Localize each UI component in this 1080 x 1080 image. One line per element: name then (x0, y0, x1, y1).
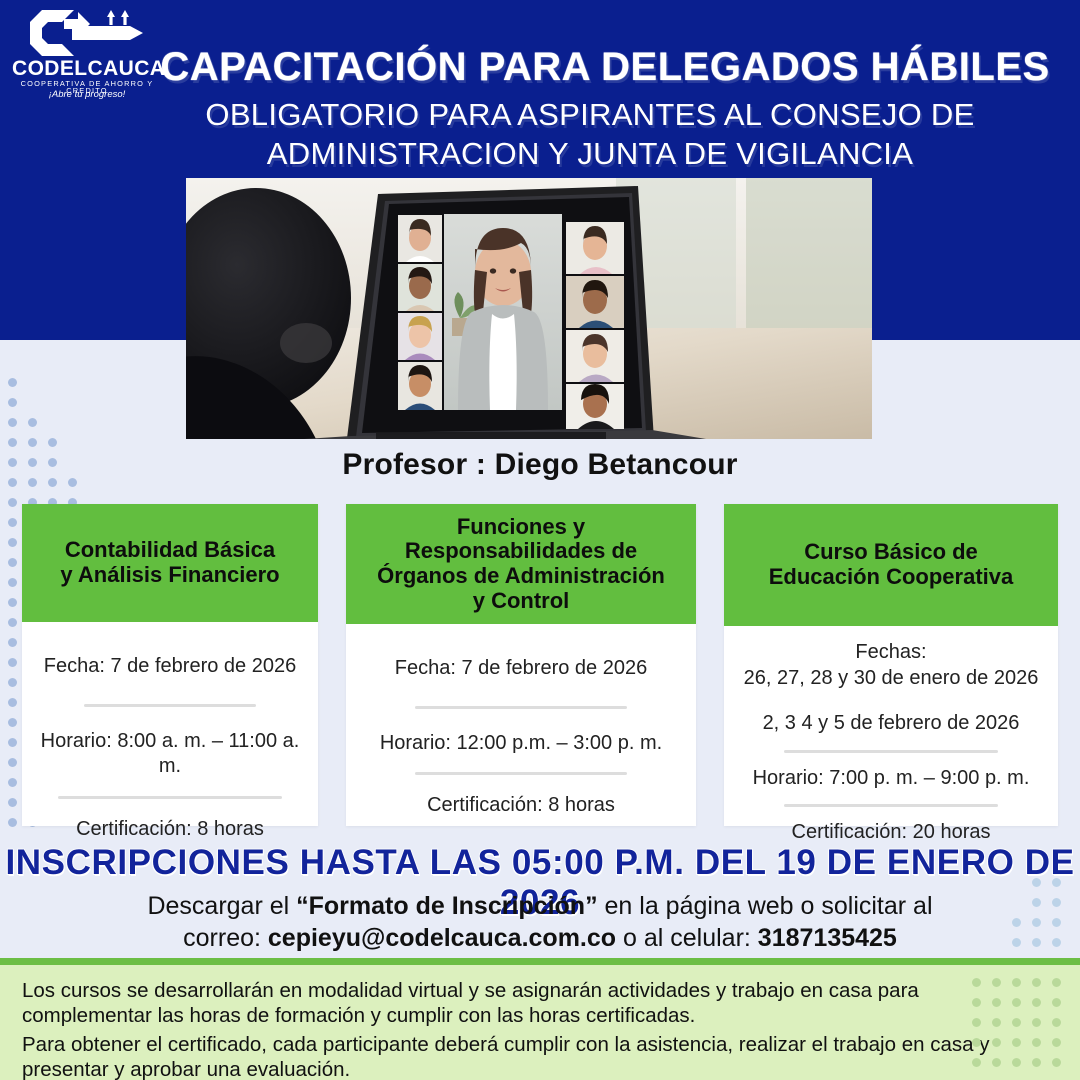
course-card-1[interactable]: Contabilidad Básicay Análisis Financiero… (22, 504, 318, 826)
contact-email[interactable]: cepieyu@codelcauca.com.co (268, 924, 616, 952)
dot (972, 1058, 981, 1067)
decorative-dots-footer (972, 978, 1072, 1078)
course-card-2-schedule: Horario: 12:00 p.m. – 3:00 p. m. (356, 731, 686, 757)
dot (8, 638, 17, 647)
dot (1012, 1018, 1021, 1027)
dot (1012, 1058, 1021, 1067)
page-subtitle-line2: ADMINISTRACION Y JUNTA DE VIGILANCIA (110, 135, 1070, 174)
contact-info: Descargar el “Formato de Inscripción” en… (60, 890, 1020, 954)
dot (1032, 978, 1041, 987)
dot (8, 738, 17, 747)
dot-row (972, 1058, 1072, 1078)
dot (8, 698, 17, 707)
page-title: CAPACITACIÓN PARA DELEGADOS HÁBILES (140, 46, 1070, 88)
dot-row (972, 1038, 1072, 1058)
contact-line-1: Descargar el “Formato de Inscripción” en… (60, 890, 1020, 922)
course-card-3[interactable]: Curso Básico deEducación Cooperativa Fec… (724, 504, 1058, 826)
dot (1012, 998, 1021, 1007)
dot (28, 418, 37, 427)
dot (8, 678, 17, 687)
dot (8, 538, 17, 547)
course-card-2-body: Fecha: 7 de febrero de 2026 Horario: 12:… (346, 656, 696, 819)
dot (8, 498, 17, 507)
dot (8, 518, 17, 527)
footer-notes: Los cursos se desarrollarán en modalidad… (0, 958, 1080, 1080)
page-subtitle-line1: OBLIGATORIO PARA ASPIRANTES AL CONSEJO D… (110, 96, 1070, 135)
dot (1032, 998, 1041, 1007)
divider (415, 772, 627, 775)
dot (972, 1018, 981, 1027)
course-card-1-certification: Certificación: 8 horas (32, 817, 308, 843)
course-card-3-header: Curso Básico deEducación Cooperativa (724, 504, 1058, 626)
professor-label: Profesor : Diego Betancour (0, 448, 1080, 482)
course-card-1-body: Fecha: 7 de febrero de 2026 Horario: 8:0… (22, 654, 318, 842)
hero-image (186, 178, 872, 439)
course-card-1-date: Fecha: 7 de febrero de 2026 (32, 654, 308, 680)
dot (1032, 1038, 1041, 1047)
dot (1052, 998, 1061, 1007)
divider (784, 750, 998, 753)
course-card-3-body: Fechas: 26, 27, 28 y 30 de enero de 2026… (724, 640, 1058, 846)
dot-row (972, 978, 1072, 998)
contact-l2-c: o al celular: (616, 924, 758, 952)
dot (8, 378, 17, 387)
course-card-1-schedule: Horario: 8:00 a. m. – 11:00 a. m. (32, 729, 308, 780)
dot (992, 1038, 1001, 1047)
course-card-2-header: Funciones yResponsabilidades deÓrganos d… (346, 504, 696, 624)
contact-phone[interactable]: 3187135425 (758, 924, 897, 952)
dot (992, 998, 1001, 1007)
dot (8, 818, 17, 827)
footer-note-1: Los cursos se desarrollarán en modalidad… (22, 979, 1052, 1028)
dot (28, 438, 37, 447)
dot (8, 718, 17, 727)
dot-row (972, 998, 1072, 1018)
course-card-3-dates-1: 26, 27, 28 y 30 de enero de 2026 (734, 666, 1048, 692)
dot (1032, 938, 1041, 947)
poster-root: CODELCAUCA COOPERATIVA DE AHORRO Y CREDI… (0, 0, 1080, 1080)
dot (48, 438, 57, 447)
dot (992, 978, 1001, 987)
course-card-3-dates-2: 2, 3 4 y 5 de febrero de 2026 (734, 711, 1048, 737)
page-subtitle: OBLIGATORIO PARA ASPIRANTES AL CONSEJO D… (110, 96, 1070, 174)
dot (1012, 978, 1021, 987)
contact-form-name: “Formato de Inscripción” (296, 892, 597, 920)
dot-row (972, 1018, 1072, 1038)
dot (1052, 1058, 1061, 1067)
dot (972, 998, 981, 1007)
dot (1052, 978, 1061, 987)
divider (415, 706, 627, 709)
dot (972, 978, 981, 987)
dot (8, 778, 17, 787)
dot (8, 418, 17, 427)
dot (1032, 1018, 1041, 1027)
dot (1052, 938, 1061, 947)
dot (8, 598, 17, 607)
divider (58, 796, 282, 799)
dot (1052, 1018, 1061, 1027)
dot (8, 578, 17, 587)
dot (8, 558, 17, 567)
dot-row (8, 418, 108, 438)
course-card-3-schedule: Horario: 7:00 p. m. – 9:00 p. m. (734, 766, 1048, 792)
contact-l2-a: correo: (183, 924, 268, 952)
dot (992, 1018, 1001, 1027)
course-card-2-title: Funciones yResponsabilidades deÓrganos d… (377, 515, 665, 614)
contact-line-2: correo: cepieyu@codelcauca.com.co o al c… (60, 922, 1020, 954)
dot (1032, 1058, 1041, 1067)
course-card-2[interactable]: Funciones yResponsabilidades deÓrganos d… (346, 504, 696, 826)
divider (784, 804, 998, 807)
course-card-3-title: Curso Básico deEducación Cooperativa (769, 540, 1014, 589)
dot (8, 798, 17, 807)
contact-l1-a: Descargar el (147, 892, 296, 920)
dot (8, 438, 17, 447)
dot (972, 1038, 981, 1047)
dot (8, 398, 17, 407)
dot (1052, 1038, 1061, 1047)
dot (1012, 1038, 1021, 1047)
divider (84, 704, 256, 707)
course-card-2-certification: Certificación: 8 horas (356, 793, 686, 819)
dot (8, 758, 17, 767)
course-card-2-date: Fecha: 7 de febrero de 2026 (356, 656, 686, 682)
dot (8, 658, 17, 667)
video-call-photo-icon (186, 178, 872, 439)
contact-l1-c: en la página web o solicitar al (598, 892, 933, 920)
dot (8, 618, 17, 627)
dot-row (8, 378, 108, 398)
course-card-1-header: Contabilidad Básicay Análisis Financiero (22, 504, 318, 622)
footer-note-2: Para obtener el certificado, cada partic… (22, 1033, 1052, 1080)
dot-row (8, 398, 108, 418)
course-card-3-dates-label: Fechas: (734, 640, 1048, 666)
dot (992, 1058, 1001, 1067)
course-card-1-title: Contabilidad Básicay Análisis Financiero (60, 538, 279, 587)
